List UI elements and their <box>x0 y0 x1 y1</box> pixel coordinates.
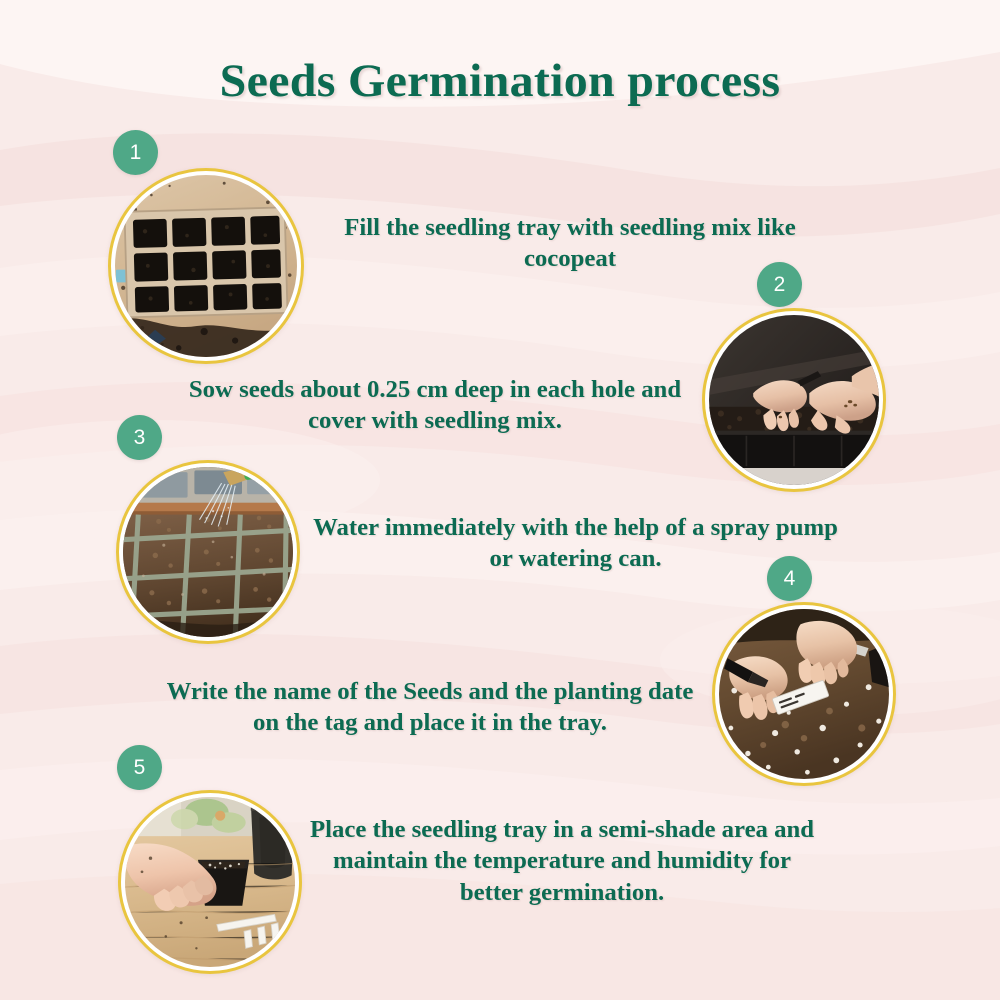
step-badge-1-number: 1 <box>130 142 142 163</box>
step-badge-5-number: 5 <box>134 757 146 778</box>
photo-seedling-tray-filled-image <box>115 175 297 357</box>
step-badge-2-number: 2 <box>774 274 786 295</box>
step-3-caption: Water immediately with the help of a spr… <box>300 512 850 575</box>
infographic-canvas: Seeds Germination process 1 <box>0 0 1000 1000</box>
photo-watering-tray-spray <box>116 460 300 644</box>
step-badge-3-number: 3 <box>134 427 146 448</box>
photo-writing-plant-tag-image <box>719 609 889 779</box>
photo-hands-sowing-seeds <box>702 308 886 492</box>
step-badge-4-number: 4 <box>784 568 796 589</box>
step-4-caption: Write the name of the Seeds and the plan… <box>157 676 702 739</box>
step-1-caption: Fill the seedling tray with seedling mix… <box>307 212 832 275</box>
photo-watering-tray-spray-image <box>123 467 293 637</box>
photo-seedling-tray-filled <box>108 168 304 364</box>
photo-placing-tray-bench-image <box>125 797 295 967</box>
step-badge-1: 1 <box>113 130 158 175</box>
step-badge-4: 4 <box>767 556 812 601</box>
photo-hands-sowing-seeds-image <box>709 315 879 485</box>
step-2-caption: Sow seeds about 0.25 cm deep in each hol… <box>188 374 683 437</box>
step-badge-5: 5 <box>117 745 162 790</box>
step-5-caption: Place the seedling tray in a semi-shade … <box>310 814 815 908</box>
photo-placing-tray-bench <box>118 790 302 974</box>
step-badge-2: 2 <box>757 262 802 307</box>
step-badge-3: 3 <box>117 415 162 460</box>
photo-writing-plant-tag <box>712 602 896 786</box>
